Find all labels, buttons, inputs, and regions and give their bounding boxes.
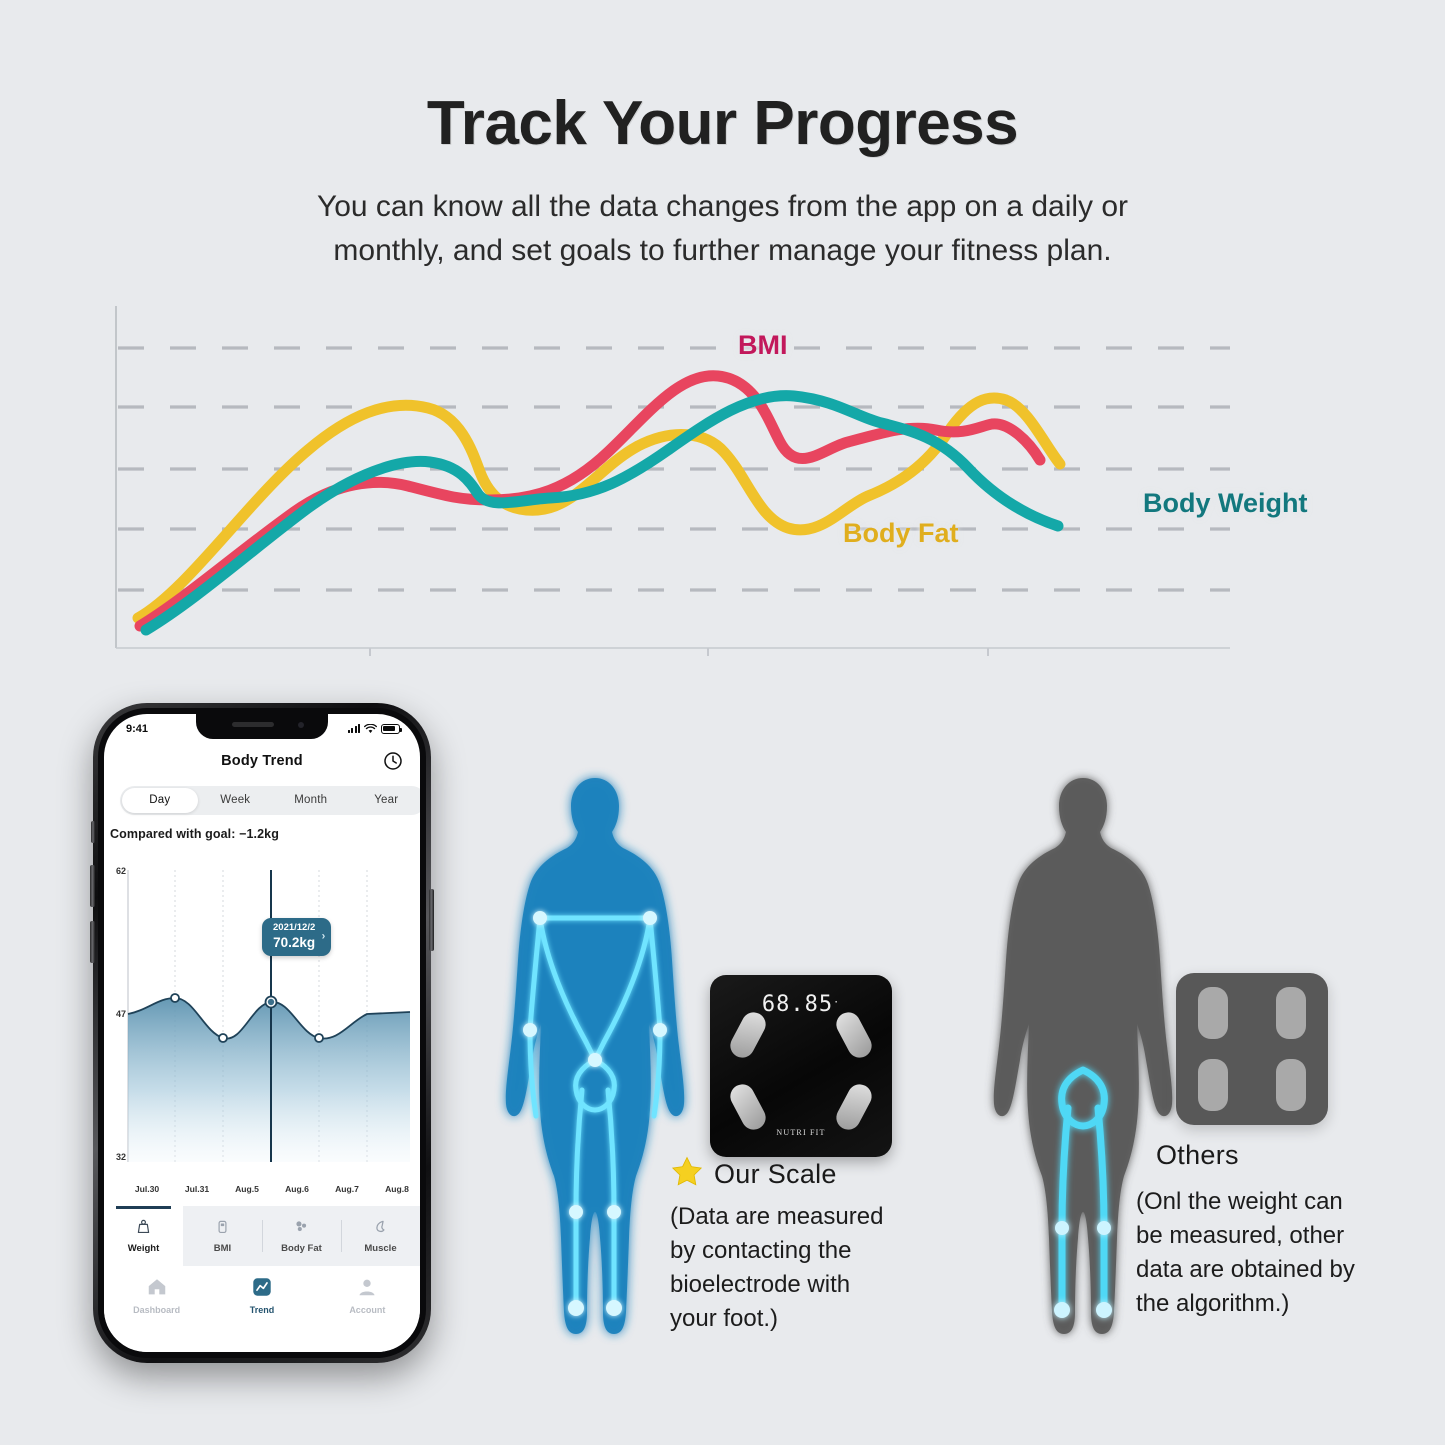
others-desc-line-2: be measured, other	[1136, 1219, 1416, 1253]
status-bar-indicators	[348, 724, 400, 734]
x-label-3: Aug.6	[272, 1184, 322, 1194]
status-bar-time: 9:41	[126, 723, 148, 735]
bmi-icon	[214, 1218, 231, 1238]
tab-account[interactable]: Account	[315, 1276, 420, 1352]
tooltip-value: 70.2kg	[273, 935, 315, 951]
battery-icon	[381, 724, 400, 734]
phone-screen: 9:41 Body Trend	[104, 714, 420, 1352]
muscle-icon	[372, 1218, 389, 1238]
x-ticks	[370, 648, 988, 656]
metric-tab-bmi-label: BMI	[214, 1243, 231, 1254]
others-pad-bottom-right	[1276, 1059, 1306, 1111]
segment-month[interactable]: Month	[273, 788, 349, 813]
cellular-signal-icon	[348, 724, 360, 733]
scale-display-number: 68.85	[762, 992, 833, 1017]
phone-volume-up-button[interactable]	[90, 865, 95, 907]
page-subtitle: You can know all the data changes from t…	[273, 185, 1173, 272]
tooltip-date: 2021/12/2	[273, 923, 315, 934]
earpiece-speaker-icon	[232, 722, 274, 727]
metric-tab-body-fat-label: Body Fat	[281, 1243, 322, 1254]
account-icon	[356, 1276, 378, 1300]
weight-trend-chart: 62 47 32 2021/12/2 70.2kg ›	[110, 862, 420, 1182]
electrode-pad-top-right	[832, 1008, 876, 1062]
tab-dashboard-label: Dashboard	[133, 1305, 180, 1315]
weight-trend-svg	[110, 862, 420, 1182]
phone-mute-switch[interactable]	[91, 821, 95, 843]
phone-mockup: 9:41 Body Trend	[93, 703, 431, 1363]
body-weight-series-label: Body Weight	[1143, 488, 1308, 519]
chart-area-fill	[128, 998, 410, 1162]
trend-chart-svg	[108, 300, 1236, 658]
metric-tab-muscle[interactable]: Muscle	[341, 1206, 420, 1266]
electrode-pad-bottom-right	[832, 1080, 876, 1134]
body-fat-icon	[293, 1218, 310, 1238]
others-description: (Onl the weight can be measured, other d…	[1136, 1185, 1416, 1321]
metric-tab-bar[interactable]: Weight BMI	[104, 1206, 420, 1266]
body-fat-series-label: Body Fat	[843, 518, 959, 549]
segment-week[interactable]: Week	[198, 788, 274, 813]
bmi-series-label: BMI	[738, 330, 788, 361]
others-desc-line-1: (Onl the weight can	[1136, 1185, 1416, 1219]
header-section: Track Your Progress You can know all the…	[0, 0, 1445, 272]
metric-tab-weight-label: Weight	[128, 1243, 160, 1254]
bottom-tab-bar[interactable]: Dashboard Trend Account	[104, 1266, 420, 1352]
x-label-1: Jul.31	[172, 1184, 222, 1194]
others-pad-top-right	[1276, 987, 1306, 1039]
our-scale-caption-text: Our Scale	[714, 1159, 837, 1190]
phone-volume-down-button[interactable]	[90, 921, 95, 963]
chart-y-label-mid: 47	[116, 1009, 126, 1019]
phone-power-button[interactable]	[429, 889, 434, 951]
goal-comparison-text: Compared with goal: −1.2kg	[110, 827, 279, 841]
chart-tooltip[interactable]: 2021/12/2 70.2kg ›	[262, 918, 331, 956]
tab-dashboard[interactable]: Dashboard	[104, 1276, 209, 1352]
others-pad-bottom-left	[1198, 1059, 1228, 1111]
x-label-4: Aug.7	[322, 1184, 372, 1194]
tooltip-chevron-right-icon[interactable]: ›	[322, 931, 326, 944]
our-desc-line-2: by contacting the	[670, 1234, 930, 1268]
our-scale-caption: Our Scale	[670, 1155, 837, 1194]
subtitle-line-1: You can know all the data changes from t…	[273, 185, 1173, 229]
home-icon	[146, 1276, 168, 1300]
tab-trend[interactable]: Trend	[209, 1276, 314, 1352]
our-desc-line-1: (Data are measured	[670, 1200, 930, 1234]
metric-tab-body-fat[interactable]: Body Fat	[262, 1206, 341, 1266]
subtitle-line-2: monthly, and set goals to further manage…	[273, 229, 1173, 273]
front-camera-icon	[298, 722, 304, 728]
app-title: Body Trend	[221, 753, 303, 769]
metric-tab-bmi[interactable]: BMI	[183, 1206, 262, 1266]
weight-icon	[135, 1218, 152, 1238]
x-label-0: Jul.30	[122, 1184, 172, 1194]
star-icon	[670, 1155, 704, 1194]
body-weight-curve	[146, 396, 1058, 630]
trend-chart: BMI Body Fat Body Weight	[108, 300, 1236, 658]
x-label-2: Aug.5	[222, 1184, 272, 1194]
metric-tab-weight[interactable]: Weight	[104, 1206, 183, 1266]
tab-trend-label: Trend	[250, 1305, 275, 1315]
segment-year[interactable]: Year	[349, 788, 421, 813]
others-caption: Others	[1156, 1140, 1239, 1171]
x-label-5: Aug.8	[372, 1184, 420, 1194]
segment-day[interactable]: Day	[122, 788, 198, 813]
wifi-icon	[364, 724, 377, 734]
our-scale-device: 68.85. NUTRI FIT	[710, 975, 892, 1157]
trend-icon	[251, 1276, 273, 1300]
metric-tab-muscle-label: Muscle	[364, 1243, 396, 1254]
page-title: Track Your Progress	[0, 88, 1445, 159]
app-nav-bar: Body Trend	[104, 744, 420, 778]
chart-y-label-bottom: 32	[116, 1152, 126, 1162]
period-segmented-control[interactable]: Day Week Month Year	[120, 786, 420, 815]
our-desc-line-4: your foot.)	[670, 1302, 930, 1336]
chart-x-axis-labels: Jul.30 Jul.31 Aug.5 Aug.6 Aug.7 Aug.8	[122, 1184, 420, 1194]
our-desc-line-3: bioelectrode with	[670, 1268, 930, 1302]
others-desc-line-4: the algorithm.)	[1136, 1287, 1416, 1321]
electrode-pad-bottom-left	[726, 1080, 770, 1134]
scale-display-value: 68.85.	[762, 992, 840, 1017]
clock-history-icon[interactable]	[383, 751, 403, 775]
others-desc-line-3: data are obtained by	[1136, 1253, 1416, 1287]
others-scale-device	[1176, 973, 1328, 1125]
chart-y-label-top: 62	[116, 866, 126, 876]
tab-account-label: Account	[349, 1305, 385, 1315]
others-pad-top-left	[1198, 987, 1228, 1039]
scale-brand-label: NUTRI FIT	[776, 1128, 825, 1137]
electrode-pad-top-left	[726, 1008, 770, 1062]
others-caption-text: Others	[1156, 1140, 1239, 1171]
phone-notch	[196, 714, 328, 739]
our-scale-description: (Data are measured by contacting the bio…	[670, 1200, 930, 1336]
